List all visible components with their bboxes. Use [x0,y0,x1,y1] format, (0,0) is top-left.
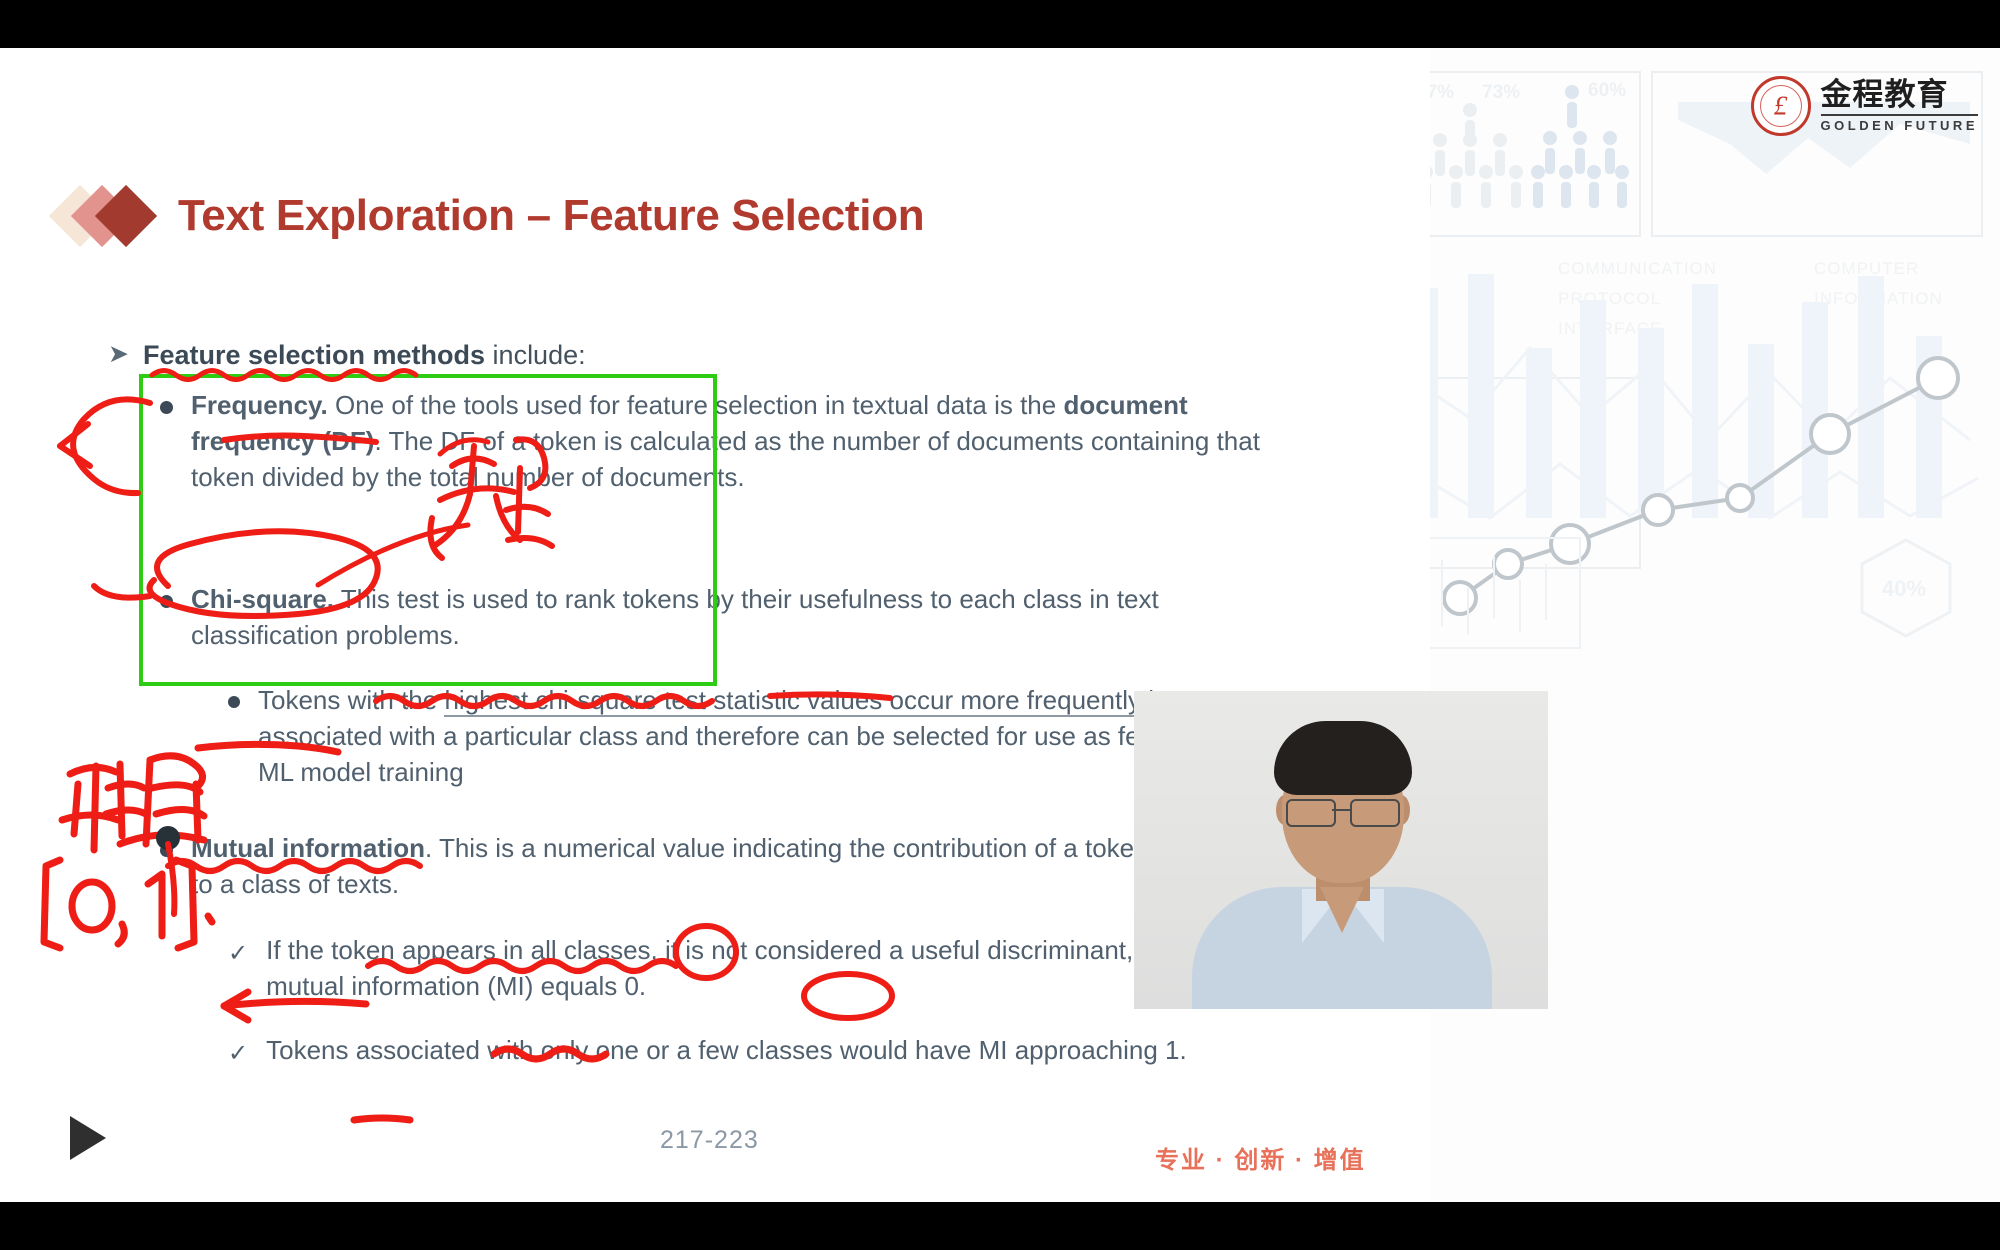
logo-chinese-text: 金程教育 [1821,79,1978,112]
svg-text:PROTOCOL: PROTOCOL [1558,289,1661,308]
play-button[interactable] [70,1116,106,1160]
chi-square-text: This test is used to rank tokens by thei… [191,584,1159,650]
frequency-text-a: One of the tools used for feature select… [328,390,1064,420]
svg-text:COMPUTER: COMPUTER [1814,259,1919,278]
frequency-label: Frequency. [191,390,328,420]
bullet-chi-square: Chi-square. This test is used to rank to… [160,582,1271,654]
diamond-decoration-icon [58,183,168,249]
bullet-chi-square-sub: Tokens with the highest chi-square test … [228,683,1288,791]
presenter-hair [1274,721,1412,795]
bullet-feature-selection-methods: ➤ Feature selection methods include: [108,338,586,374]
chi-sub-underlined: highest chi-square test statistic values… [444,685,1141,717]
slide-stage: Text Exploration – Feature Selection ➤ F… [0,48,2000,1202]
mutual-information-label: Mutual information [191,833,425,863]
seal-monogram: £ [1754,93,1808,120]
svg-text:47%: 47% [1430,82,1454,103]
svg-text:40%: 40% [1882,576,1926,601]
background-infographic-watermark: 47% 73% 60% ES TER COMMUNICATION PROTOCO… [1430,48,2000,1202]
svg-text:COMMUNICATION: COMMUNICATION [1558,259,1717,278]
letterbox-bottom [0,1202,2000,1250]
presenter-video[interactable] [1134,691,1548,1009]
bullet-dot-icon [160,595,173,608]
slide-title-row: Text Exploration – Feature Selection [58,183,924,249]
check-icon: ✓ [228,937,248,970]
bullet-lead-rest: include: [485,340,586,370]
svg-text:73%: 73% [1482,82,1520,103]
letterbox-top [0,0,2000,48]
chi-sub-pre: Tokens with the [258,685,444,715]
check-bullet-2-text: Tokens associated with only one or a few… [266,1033,1226,1069]
presenter-glasses [1284,799,1402,825]
page-title: Text Exploration – Feature Selection [178,191,924,241]
page-number: 217-223 [660,1126,759,1155]
chevron-right-icon: ➤ [108,338,129,371]
slide-right-panel: 47% 73% 60% ES TER COMMUNICATION PROTOCO… [1430,48,2000,1202]
bullet-dot-icon [160,401,173,414]
video-player-screen: Text Exploration – Feature Selection ➤ F… [0,0,2000,1250]
seal-icon: £ [1751,76,1811,136]
bullet-frequency: Frequency. One of the tools used for fea… [160,388,1301,496]
slogan-text: 专业 · 创新 · 增值 [1155,1140,1366,1175]
check-bullet-1-text: If the token appears in all classes, it … [266,933,1226,1005]
bullet-dot-icon [228,696,240,708]
bullet-lead-bold: Feature selection methods [143,340,485,370]
svg-text:60%: 60% [1588,80,1626,101]
bullet-dot-icon [160,844,173,857]
bullet-mutual-information: Mutual information. This is a numerical … [160,831,1151,903]
presentation-slide: Text Exploration – Feature Selection ➤ F… [0,48,1430,1202]
check-bullet-mi-zero: ✓ If the token appears in all classes, i… [228,933,1226,1005]
logo-english-text: GOLDEN FUTURE [1821,114,1978,133]
check-icon: ✓ [228,1037,248,1070]
check-bullet-mi-one: ✓ Tokens associated with only one or a f… [228,1033,1226,1070]
chi-square-label: Chi-square. [191,584,334,614]
brand-logo: £ 金程教育 GOLDEN FUTURE [1751,76,1978,136]
